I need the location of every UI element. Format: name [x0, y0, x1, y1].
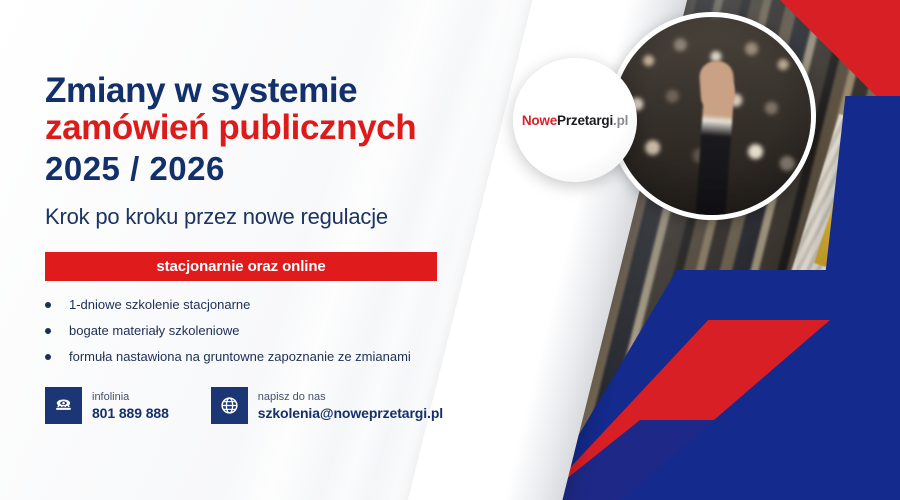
contact-phone-label: infolinia	[92, 391, 169, 403]
list-item: formuła nastawiona na gruntowne zapoznan…	[45, 349, 515, 364]
list-item-label: formuła nastawiona na gruntowne zapoznan…	[69, 349, 411, 364]
headline-line-1: Zmiany w systemie	[45, 72, 515, 109]
page-title: Zmiany w systemie zamówień publicznych 2…	[45, 72, 515, 186]
contact-email[interactable]: napisz do nas szkolenia@noweprzetargi.pl	[211, 387, 443, 424]
contact-email-text: napisz do nas szkolenia@noweprzetargi.pl	[258, 391, 443, 421]
content-block: Zmiany w systemie zamówień publicznych 2…	[45, 72, 515, 375]
contact-row: infolinia 801 889 888 napisz do nas szko…	[45, 387, 443, 424]
contact-phone-text: infolinia 801 889 888	[92, 391, 169, 421]
audience-photo-circle	[608, 12, 816, 220]
globe-icon	[211, 387, 248, 424]
mode-banner-label: stacjonarnie oraz online	[156, 258, 325, 275]
promo-banner: NowePrzetargi.pl Zmiany w systemie zamów…	[0, 0, 900, 500]
contact-email-label: napisz do nas	[258, 391, 443, 403]
list-item: bogate materiały szkoleniowe	[45, 323, 515, 338]
logo-part-przetargi: Przetargi	[557, 113, 613, 128]
headline-years: 2025 / 2026	[45, 151, 515, 186]
logo-badge[interactable]: NowePrzetargi.pl	[513, 58, 637, 182]
phone-icon	[45, 387, 82, 424]
list-item-label: 1-dniowe szkolenie stacjonarne	[69, 297, 250, 312]
logo-text: NowePrzetargi.pl	[522, 113, 628, 128]
bullet-dot-icon	[45, 302, 51, 308]
feature-list: 1-dniowe szkolenie stacjonarne bogate ma…	[45, 297, 515, 364]
list-item-label: bogate materiały szkoleniowe	[69, 323, 240, 338]
list-item: 1-dniowe szkolenie stacjonarne	[45, 297, 515, 312]
subtitle: Krok po kroku przez nowe regulacje	[45, 204, 515, 230]
contact-phone-value: 801 889 888	[92, 405, 169, 421]
headline-line-2: zamówień publicznych	[45, 109, 515, 146]
status-badge: stacjonarnie oraz online	[45, 252, 437, 281]
photo-vignette	[613, 17, 811, 215]
bullet-dot-icon	[45, 354, 51, 360]
contact-email-value: szkolenia@noweprzetargi.pl	[258, 405, 443, 421]
logo-part-pl: .pl	[613, 113, 628, 128]
contact-phone[interactable]: infolinia 801 889 888	[45, 387, 169, 424]
logo-part-nowe: Nowe	[522, 113, 557, 128]
bullet-dot-icon	[45, 328, 51, 334]
